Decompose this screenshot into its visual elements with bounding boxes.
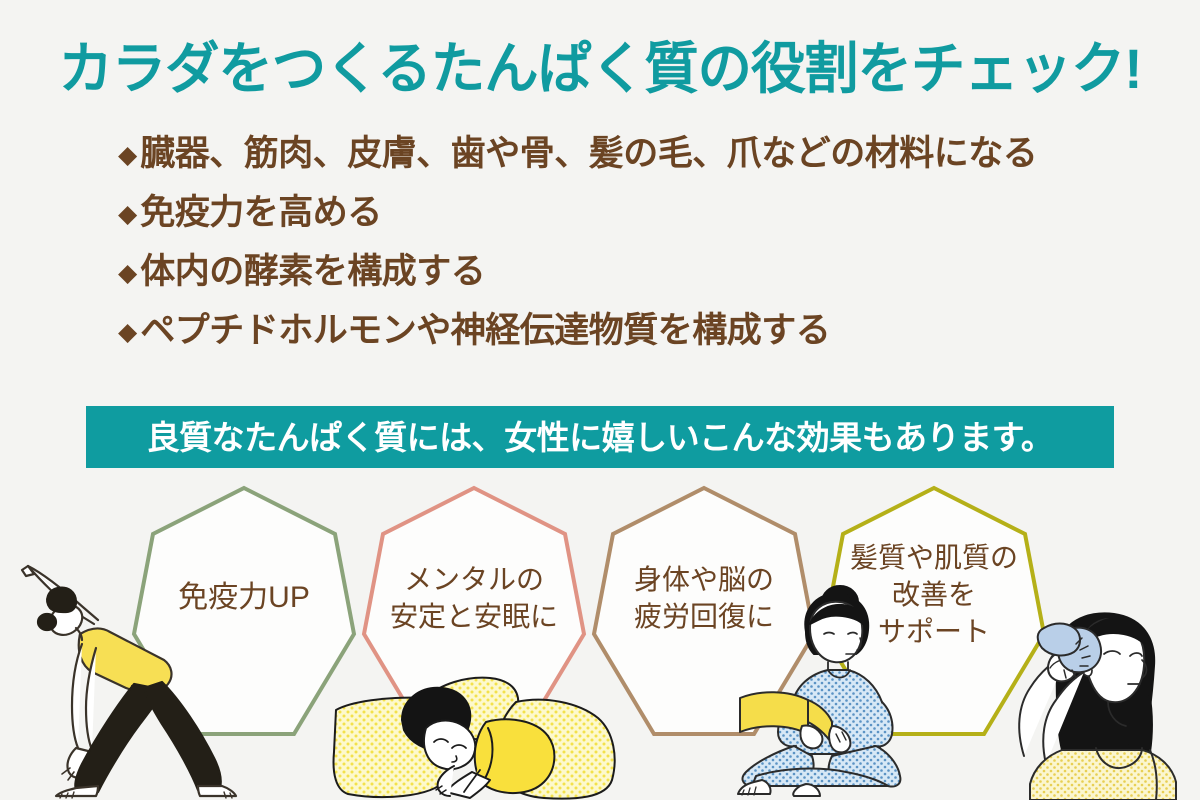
sleeping-woman-illustration (330, 662, 620, 800)
list-item: ◆ 体内の酵素を構成する (118, 254, 1128, 313)
list-item-label: ペプチドホルモンや神経伝達物質を構成する (140, 313, 830, 348)
highlight-banner: 良質なたんぱく質には、女性に嬉しいこんな効果もあります。 (86, 406, 1114, 468)
diamond-bullet-icon: ◆ (118, 320, 137, 345)
yoga-woman-stretching-illustration (14, 548, 304, 800)
list-item: ◆ 臓器、筋肉、皮膚、歯や骨、髪の毛、爪などの材料になる (118, 136, 1128, 195)
benefit-card-label: メンタルの 安定と安眠に (358, 562, 590, 636)
woman-brushing-hair-illustration (1000, 608, 1200, 800)
infographic-poster: カラダをつくるたんぱく質の役割をチェック! ◆ 臓器、筋肉、皮膚、歯や骨、髪の毛… (0, 0, 1200, 800)
diamond-bullet-icon: ◆ (118, 202, 137, 227)
diamond-bullet-icon: ◆ (118, 261, 137, 286)
woman-reading-book-illustration (736, 576, 936, 800)
list-item: ◆ ペプチドホルモンや神経伝達物質を構成する (118, 313, 1128, 372)
list-item: ◆ 免疫力を高める (118, 195, 1128, 254)
highlight-banner-label: 良質なたんぱく質には、女性に嬉しいこんな効果もあります。 (147, 421, 1054, 454)
benefit-bullet-list: ◆ 臓器、筋肉、皮膚、歯や骨、髪の毛、爪などの材料になる ◆ 免疫力を高める ◆… (118, 136, 1128, 372)
diamond-bullet-icon: ◆ (118, 143, 137, 168)
list-item-label: 免疫力を高める (140, 195, 382, 230)
list-item-label: 臓器、筋肉、皮膚、歯や骨、髪の毛、爪などの材料になる (140, 136, 1037, 171)
list-item-label: 体内の酵素を構成する (140, 254, 485, 289)
page-title: カラダをつくるたんぱく質の役割をチェック! (18, 38, 1182, 101)
